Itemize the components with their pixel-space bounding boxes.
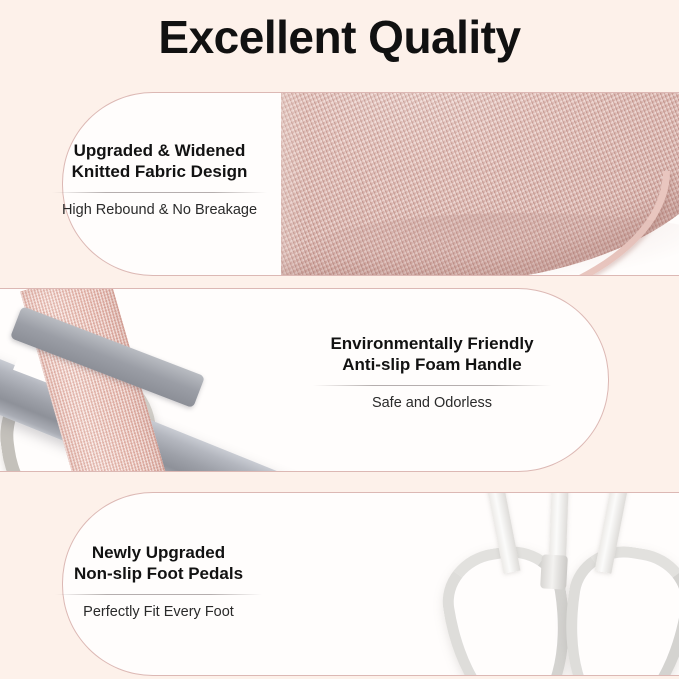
feature-heading-line1: Newly Upgraded	[55, 542, 262, 563]
feature-heading-line1: Environmentally Friendly	[313, 333, 551, 354]
feature-heading-line2: Anti-slip Foam Handle	[313, 354, 551, 375]
feature-subheading: Perfectly Fit Every Foot	[55, 603, 262, 622]
feature-subheading: High Rebound & No Breakage	[52, 201, 267, 220]
feature-text-foot-pedals: Newly Upgraded Non-slip Foot Pedals Perf…	[55, 542, 262, 621]
feature-subheading: Safe and Odorless	[313, 394, 551, 413]
pedal-strap-junction	[540, 554, 568, 589]
feature-divider	[52, 192, 267, 193]
product-feature-infographic: Excellent Quality Upgraded & Widened Kni…	[0, 0, 679, 679]
feature-divider	[55, 594, 262, 595]
feature-text-knitted-fabric: Upgraded & Widened Knitted Fabric Design…	[52, 140, 267, 219]
feature-text-foam-handle: Environmentally Friendly Anti-slip Foam …	[313, 333, 551, 412]
feature-heading-line2: Non-slip Foot Pedals	[55, 563, 262, 584]
feature-divider	[313, 385, 551, 386]
feature-heading-line2: Knitted Fabric Design	[52, 161, 267, 182]
feature-heading-line1: Upgraded & Widened	[52, 140, 267, 161]
foot-pedal-loop-right	[550, 538, 679, 676]
page-title: Excellent Quality	[0, 12, 679, 63]
